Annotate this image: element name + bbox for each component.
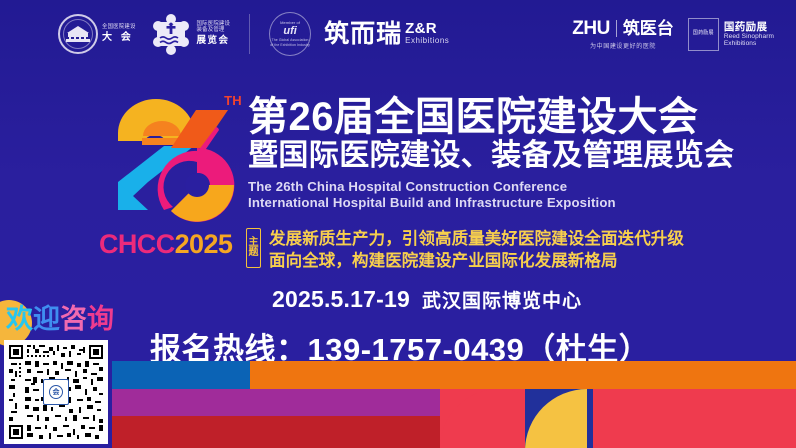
- sponsor-logo-bar: 全国医院建设 大 会: [0, 0, 796, 68]
- theme-badge-char-2: 题: [249, 248, 259, 259]
- ufi-bottom-text-2: of the Exhibition Industry: [270, 43, 310, 47]
- right-logo-group: ZHU 筑医台 为中国建设更好的医院 国药励展 国药励展 Reed Sinoph…: [572, 12, 774, 56]
- poster-root: 全国医院建设 大 会: [0, 0, 796, 448]
- zhu-chinese-name: 筑医台: [623, 20, 674, 37]
- main-title-en-line1: The 26th China Hospital Construction Con…: [248, 179, 708, 195]
- logo-zhu-platform: ZHU 筑医台 为中国建设更好的医院: [572, 19, 674, 50]
- welcome-text-block: 欢迎咨询: [2, 304, 122, 336]
- sinopharm-seal-icon: 国药励展: [688, 18, 719, 51]
- event-venue: 武汉国际博览中心: [422, 286, 582, 313]
- main-title-cn-line2: 暨国际医院建设、装备及管理展览会: [248, 139, 708, 173]
- theme-line-2: 面向全球，构建医院建设产业国际化发展新格局: [269, 250, 684, 272]
- main-title-en-line2: International Hospital Build and Infrast…: [248, 195, 708, 211]
- logo1-subtitle: 全国医院建设: [102, 25, 136, 31]
- theme-block: 主 题 发展新质生产力，引领高质量美好医院建设全面迭代升级 面向全球，构建医院建…: [246, 228, 716, 272]
- logo-ufi-badge: Member of ufi The Global Association of …: [269, 12, 311, 56]
- logo2-title: 展览会: [197, 36, 231, 46]
- date-venue-block: 2025.5.17-19 武汉国际博览中心: [272, 286, 582, 313]
- theme-line-1: 发展新质生产力，引领高质量美好医院建设全面迭代升级: [269, 228, 684, 250]
- snowflake-cross-emblem-icon: [151, 13, 191, 55]
- logo-exhibition-emblem: 国际医院建设 装备及管理 展览会: [151, 13, 231, 55]
- zr-chinese-name: 筑而瑞: [324, 22, 402, 47]
- welcome-char-1: 欢: [6, 304, 33, 334]
- zr-subtitle: Exhibitions: [405, 37, 449, 45]
- circular-hospital-building-emblem-icon: [58, 14, 98, 54]
- ufi-wordmark: ufi: [283, 26, 296, 37]
- logo-zr-exhibitions: 筑而瑞 Z&R Exhibitions: [324, 21, 449, 47]
- reed-english-1: Reed Sinopharm: [724, 33, 774, 40]
- chcc-year: 2025: [175, 229, 233, 259]
- chcc-26-logo: TH CHCC2025: [96, 88, 244, 260]
- seal-text: 国药励展: [693, 31, 714, 37]
- title-block: 第26届全国医院建设大会 暨国际医院建设、装备及管理展览会 The 26th C…: [248, 96, 708, 212]
- event-date: 2025.5.17-19: [272, 286, 410, 313]
- welcome-char-4: 询: [87, 304, 114, 334]
- theme-badge: 主 题: [246, 228, 261, 268]
- qr-center-logo-char: 会: [49, 385, 63, 399]
- logo2-subtitle-2: 装备及管理: [197, 28, 231, 34]
- qr-center-logo: 会: [43, 379, 69, 405]
- logo-divider: [249, 14, 250, 54]
- zhu-wordmark: ZHU: [572, 19, 610, 38]
- band-stripe-orange: [250, 361, 796, 389]
- ufi-top-text: Member of: [280, 21, 300, 25]
- zhu-tagline: 为中国建设更好的医院: [590, 41, 656, 50]
- chcc-wordmark: CHCC2025: [99, 231, 241, 258]
- logo-chcc-conference-emblem: 全国医院建设 大 会: [58, 14, 136, 54]
- welcome-char-2: 迎: [33, 304, 60, 334]
- reed-chinese-name: 国药励展: [724, 21, 774, 33]
- main-title-cn-line1: 第26届全国医院建设大会: [248, 96, 708, 138]
- bottom-decorative-band: [0, 361, 796, 448]
- logo-reed-sinopharm: 国药励展 国药励展 Reed Sinopharm Exhibitions: [688, 18, 774, 51]
- zr-wordmark: Z&R: [405, 21, 449, 36]
- welcome-char-3: 咨: [60, 304, 87, 334]
- chcc-prefix: CHCC: [99, 229, 175, 259]
- logo1-title: 大 会: [102, 33, 136, 44]
- reed-english-2: Exhibitions: [724, 40, 774, 47]
- numeral-26-graphic: [96, 88, 244, 236]
- left-logo-group: 全国医院建设 大 会: [58, 8, 449, 60]
- ordinal-suffix: TH: [224, 93, 242, 108]
- qr-code[interactable]: 会: [4, 340, 108, 444]
